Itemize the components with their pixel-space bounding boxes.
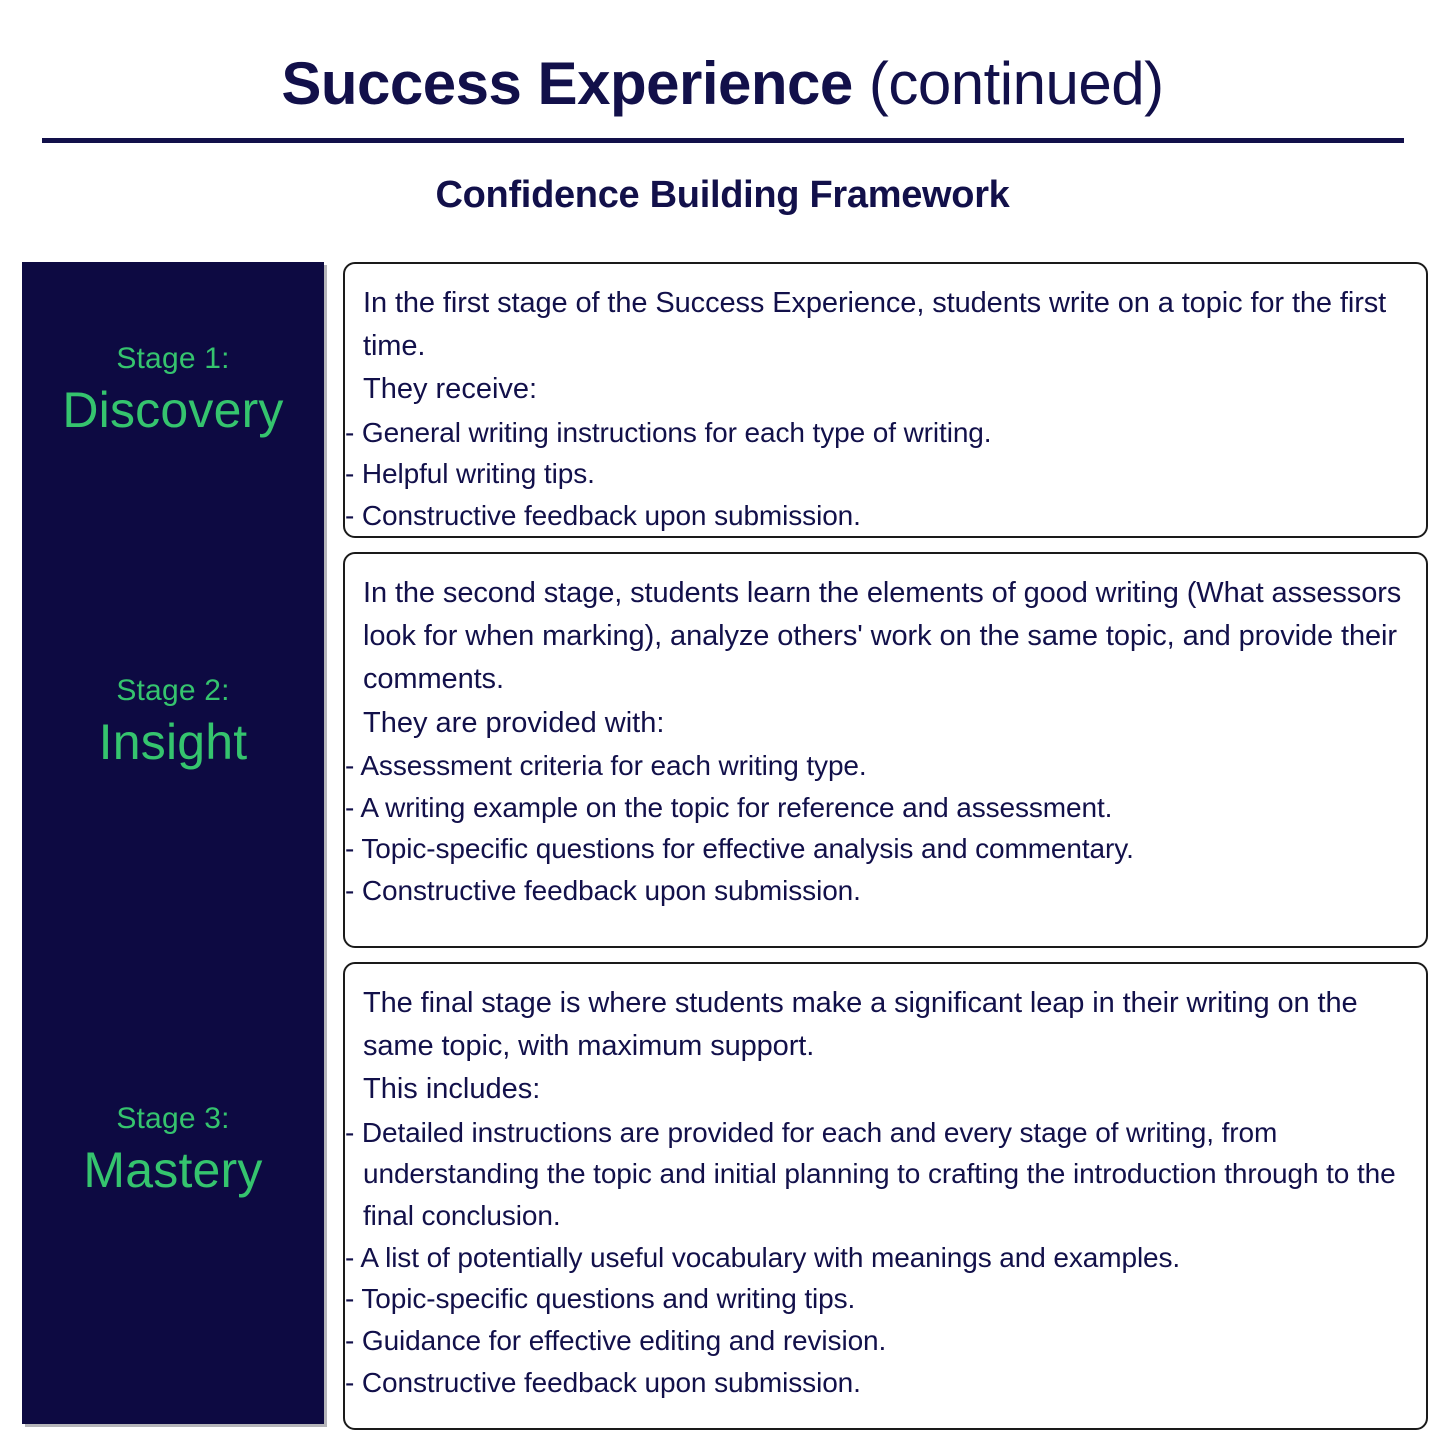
stage-panel-mastery: The final stage is where students make a…	[343, 962, 1428, 1430]
list-item: - Constructive feedback upon submission.	[363, 870, 1402, 912]
list-item: - Helpful writing tips.	[363, 453, 1402, 495]
stage-3-intro: The final stage is where students make a…	[363, 982, 1402, 1068]
list-item: - A writing example on the topic for ref…	[363, 787, 1402, 829]
slide-header: Success Experience (continued)	[0, 0, 1445, 143]
stage-panel-discovery: In the first stage of the Success Experi…	[343, 262, 1428, 538]
stage-1-index: Stage 1:	[22, 342, 324, 375]
stage-label-discovery: Stage 1: Discovery	[22, 342, 324, 438]
stage-rail: Stage 1: Discovery Stage 2: Insight Stag…	[22, 262, 324, 1424]
list-item: - Topic-specific questions and writing t…	[363, 1278, 1402, 1320]
stage-2-index: Stage 2:	[22, 674, 324, 707]
list-item: - A list of potentially useful vocabular…	[363, 1237, 1402, 1279]
page-title: Success Experience (continued)	[0, 52, 1445, 115]
stage-3-name: Mastery	[22, 1142, 324, 1198]
stage-3-bullets: - Detailed instructions are provided for…	[363, 1112, 1402, 1404]
page-title-suffix: (continued)	[853, 50, 1164, 117]
framework-diagram: Stage 1: Discovery Stage 2: Insight Stag…	[22, 262, 1428, 1430]
stage-3-lead: This includes:	[363, 1068, 1402, 1111]
stage-1-lead: They receive:	[363, 368, 1402, 411]
stage-label-insight: Stage 2: Insight	[22, 674, 324, 770]
list-item: - Topic-specific questions for effective…	[363, 828, 1402, 870]
list-item: - Assessment criteria for each writing t…	[363, 745, 1402, 787]
list-item: - Detailed instructions are provided for…	[363, 1112, 1402, 1237]
stage-2-name: Insight	[22, 714, 324, 770]
stage-1-bullets: - General writing instructions for each …	[363, 412, 1402, 537]
list-item: - Constructive feedback upon submission.	[363, 1362, 1402, 1404]
list-item: - Guidance for effective editing and rev…	[363, 1320, 1402, 1362]
stage-2-bullets: - Assessment criteria for each writing t…	[363, 745, 1402, 912]
list-item: - General writing instructions for each …	[363, 412, 1402, 454]
stage-1-name: Discovery	[22, 382, 324, 438]
stage-2-intro: In the second stage, students learn the …	[363, 572, 1402, 702]
stage-3-index: Stage 3:	[22, 1102, 324, 1135]
stage-2-lead: They are provided with:	[363, 702, 1402, 745]
list-item: - Constructive feedback upon submission.	[363, 495, 1402, 537]
title-divider	[42, 138, 1404, 143]
page-title-main: Success Experience	[281, 50, 852, 117]
framework-subtitle: Confidence Building Framework	[0, 174, 1445, 217]
stage-panel-insight: In the second stage, students learn the …	[343, 552, 1428, 948]
stage-label-mastery: Stage 3: Mastery	[22, 1102, 324, 1198]
stage-1-intro: In the first stage of the Success Experi…	[363, 282, 1402, 368]
